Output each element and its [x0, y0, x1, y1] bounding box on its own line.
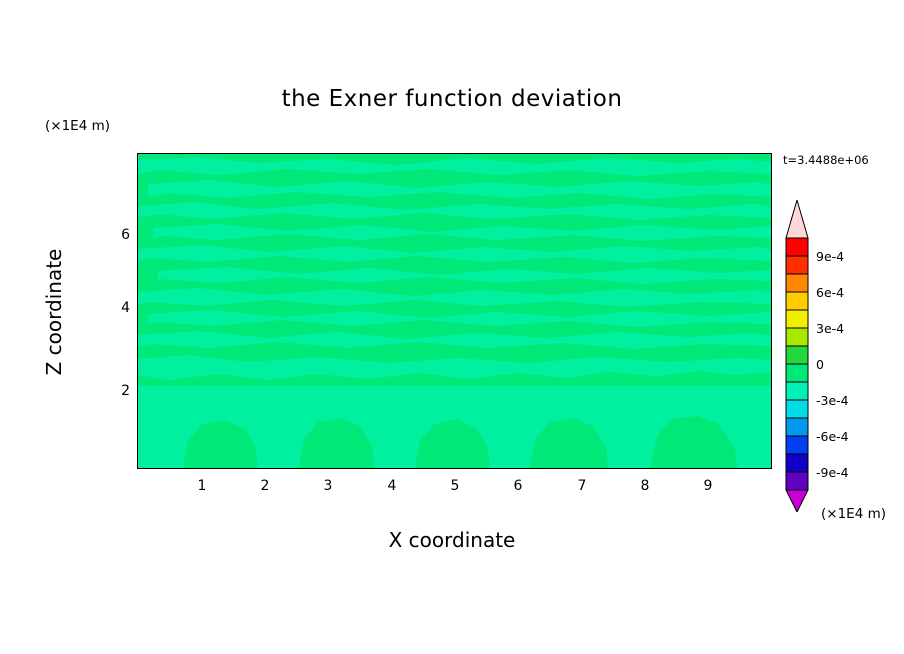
y-tick-6: 6 — [104, 227, 130, 243]
x-tick-2: 2 — [250, 478, 280, 494]
chart-title: the Exner function deviation — [0, 86, 904, 112]
colorbar-label-minus-3e-4: -3e-4 — [816, 393, 849, 408]
y-tick-2: 2 — [104, 383, 130, 399]
colorbar-label-3e-4: 3e-4 — [816, 321, 844, 336]
colorbar-label-0: 0 — [816, 357, 824, 372]
x-axis-label: X coordinate — [0, 528, 904, 552]
y-axis-units: (×1E4 m) — [45, 118, 110, 134]
x-tick-9: 9 — [693, 478, 723, 494]
contour-field — [138, 154, 771, 468]
colorbar-label-6e-4: 6e-4 — [816, 285, 844, 300]
x-tick-1: 1 — [187, 478, 217, 494]
x-tick-4: 4 — [377, 478, 407, 494]
x-axis-units: (×1E4 m) — [821, 506, 886, 522]
x-tick-3: 3 — [313, 478, 343, 494]
colorbar-label-9e-4: 9e-4 — [816, 249, 844, 264]
x-tick-5: 5 — [440, 478, 470, 494]
time-annotation: t=3.4488e+06 — [783, 153, 869, 167]
x-tick-6: 6 — [503, 478, 533, 494]
colorbar-label-minus-9e-4: -9e-4 — [816, 465, 849, 480]
colorbar — [784, 200, 810, 512]
y-axis-label: Z coordinate — [42, 212, 66, 412]
x-tick-7: 7 — [567, 478, 597, 494]
x-tick-8: 8 — [630, 478, 660, 494]
colorbar-swatches — [784, 200, 810, 512]
contour-plot — [137, 153, 772, 469]
y-tick-4: 4 — [104, 300, 130, 316]
colorbar-label-minus-6e-4: -6e-4 — [816, 429, 849, 444]
